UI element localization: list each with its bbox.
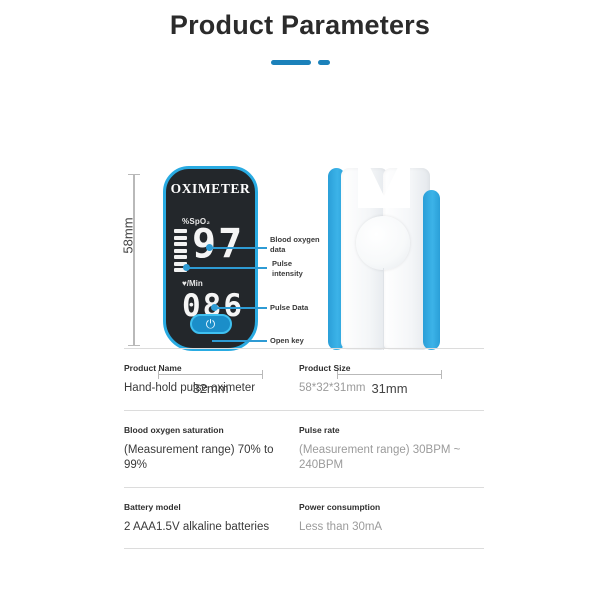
body-seam-line (383, 268, 384, 350)
spec-key: Blood oxygen saturation (124, 425, 289, 436)
spec-value: (Measurement range) 30BPM ~ 240BPM (299, 443, 474, 474)
table-row: Battery model 2 AAA1.5V alkaline batteri… (124, 488, 484, 550)
spec-value: (Measurement range) 70% to 99% (124, 443, 289, 474)
spec-cell-product-name: Product Name Hand-hold pulse oximeter (124, 363, 299, 397)
spec-value: Less than 30mA (299, 520, 474, 536)
spec-key: Product Name (124, 363, 289, 374)
spec-key: Battery model (124, 502, 289, 513)
bar-segment (174, 242, 187, 246)
callout-label-blood-oxygen: Blood oxygen data (270, 235, 320, 255)
callout-label-pulse-data: Pulse Data (270, 303, 308, 313)
callout-pulse-intensity-line2: intensity (272, 269, 303, 278)
callout-blood-oxygen-line1: Blood oxygen (270, 235, 320, 244)
divider-long-bar (271, 60, 311, 65)
table-row: Product Name Hand-hold pulse oximeter Pr… (124, 348, 484, 411)
callout-label-pulse-intensity: Pulse intensity (272, 259, 303, 279)
bar-segment (174, 236, 187, 240)
page-header: Product Parameters Product Parameters (0, 0, 600, 78)
power-button[interactable]: ⏻ (190, 314, 232, 334)
title-divider (0, 60, 600, 65)
height-dimension-label: 58mm (121, 217, 136, 253)
callout-label-open-key: Open key (270, 336, 304, 346)
table-row: Blood oxygen saturation (Measurement ran… (124, 411, 484, 488)
back-right-blue-edge (423, 190, 440, 350)
spec-key: Pulse rate (299, 425, 474, 436)
spec-cell-power-consumption: Power consumption Less than 30mA (299, 502, 484, 536)
power-icon: ⏻ (206, 318, 216, 330)
spec-cell-battery-model: Battery model 2 AAA1.5V alkaline batteri… (124, 502, 299, 536)
callout-blood-oxygen-line2: data (270, 245, 285, 254)
spec-value: 58*32*31mm (299, 381, 474, 397)
page-title: Product Parameters (0, 10, 600, 41)
pulse-rate-label: ♥/Min (182, 279, 203, 288)
hinge-circle (356, 216, 410, 270)
spec-value: Hand-hold pulse oximeter (124, 381, 289, 397)
spec-cell-pulse-rate: Pulse rate (Measurement range) 30BPM ~ 2… (299, 425, 484, 474)
divider-short-bar (318, 60, 330, 65)
callout-pulse-intensity-line1: Pulse (272, 259, 292, 268)
height-dimension-line (133, 174, 135, 346)
spec-cell-blood-oxygen-saturation: Blood oxygen saturation (Measurement ran… (124, 425, 299, 474)
oximeter-back-view (328, 168, 440, 350)
device-brand-label: OXIMETER (166, 181, 255, 197)
bar-segment (174, 255, 187, 259)
bar-segment (174, 249, 187, 253)
oximeter-front-view: OXIMETER %SpO₂ 97 ♥/Min 086 ⏻ (163, 166, 258, 351)
callout-line-pulse-intensity (187, 267, 267, 269)
spec-cell-product-size: Product Size 58*32*31mm (299, 363, 484, 397)
specification-table: Product Name Hand-hold pulse oximeter Pr… (124, 348, 484, 549)
spo2-reading: 97 (192, 224, 244, 264)
callout-line-open-key (212, 340, 267, 342)
callout-line-pulse-data (215, 307, 267, 309)
bar-segment (174, 229, 187, 233)
spec-key: Product Size (299, 363, 474, 374)
callout-line-blood-oxygen (210, 247, 267, 249)
spec-value: 2 AAA1.5V alkaline batteries (124, 520, 289, 536)
product-illustration: 58mm OXIMETER %SpO₂ 97 ♥/Min 086 ⏻ (0, 78, 600, 338)
spec-key: Power consumption (299, 502, 474, 513)
